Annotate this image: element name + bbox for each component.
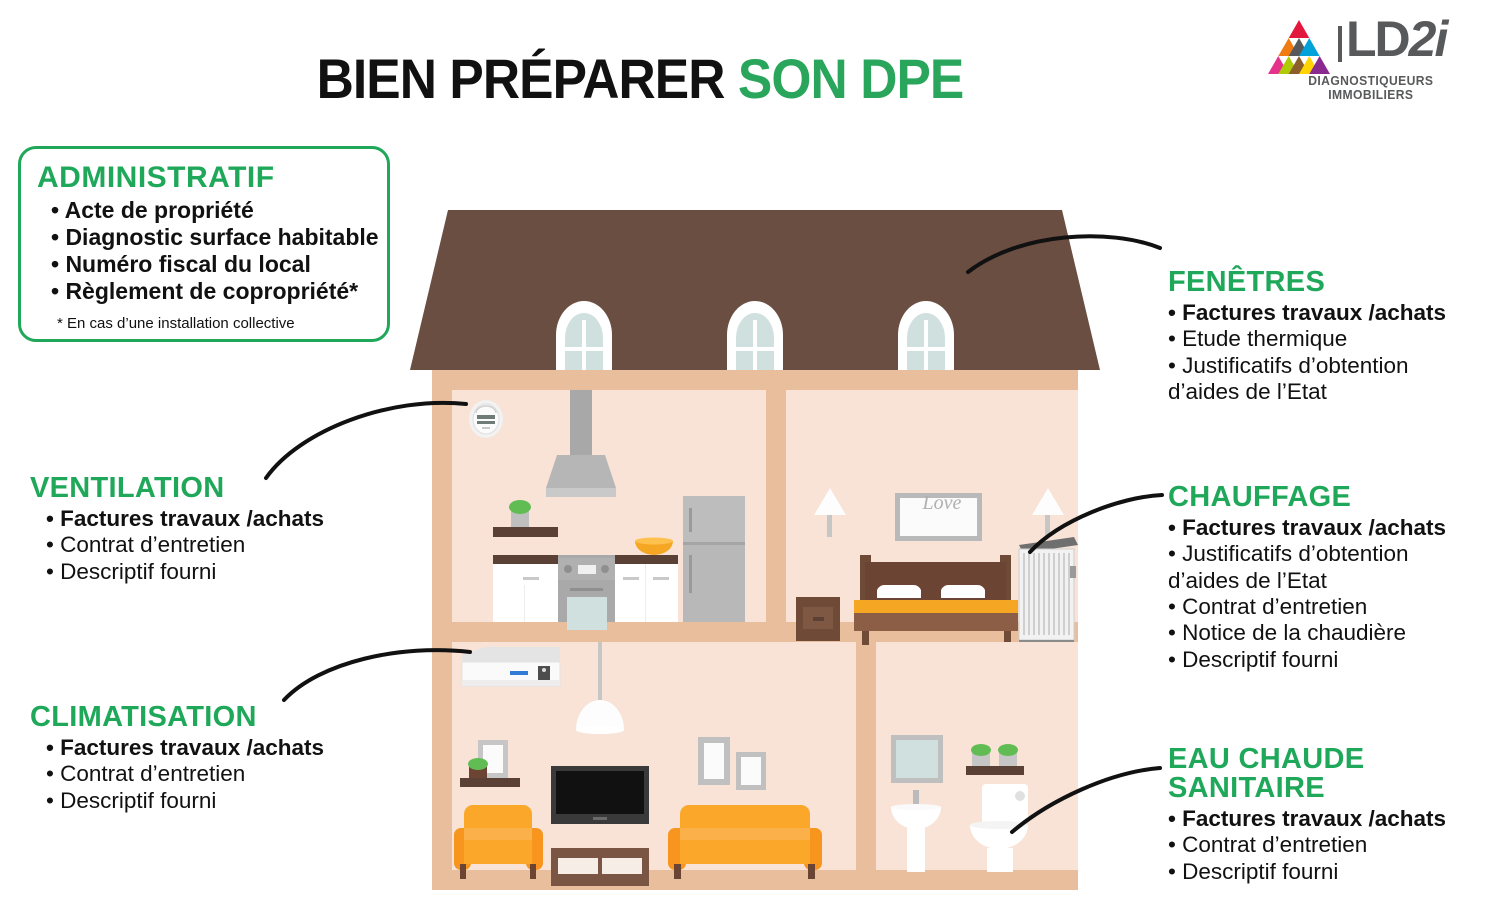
callout-chauffage: CHAUFFAGE • Factures travaux /achats • J…	[1168, 483, 1446, 673]
callout-eau-chaude-item: • Factures travaux /achats	[1168, 806, 1446, 832]
callout-climatisation-heading: CLIMATISATION	[30, 703, 324, 732]
tv-stand	[551, 848, 649, 886]
administratif-item: • Règlement de copropriété*	[37, 278, 371, 305]
callout-fenetres-item: • Justificatifs d’obtention	[1168, 353, 1446, 379]
administratif-item: • Acte de propriété	[37, 197, 371, 224]
callout-ventilation-heading: VENTILATION	[30, 474, 324, 503]
callout-fenetres: FENÊTRES • Factures travaux /achats • Et…	[1168, 268, 1446, 405]
callout-fenetres-item: d’aides de l’Etat	[1168, 379, 1446, 405]
callout-eau-chaude-heading-line1: EAU CHAUDE	[1168, 745, 1446, 774]
callout-eau-chaude-heading-line2: SANITAIRE	[1168, 774, 1446, 803]
room-bedroom	[786, 390, 1078, 645]
oven	[558, 555, 615, 630]
callout-ventilation-item: • Contrat d’entretien	[30, 532, 324, 558]
picture-frame-love-text: Love	[898, 492, 986, 515]
callout-chauffage-item: • Notice de la chaudière	[1168, 620, 1446, 646]
wall-picture-frame	[698, 737, 730, 785]
logo-divider	[1338, 26, 1342, 62]
kitchen-counter-left	[493, 555, 558, 622]
callout-fenetres-item: • Etude thermique	[1168, 326, 1446, 352]
administratif-panel: ADMINISTRATIF • Acte de propriété • Diag…	[18, 146, 390, 342]
callout-fenetres-heading: FENÊTRES	[1168, 268, 1446, 297]
logo-triangle-icon	[1268, 18, 1330, 76]
callout-eau-chaude-sanitaire: EAU CHAUDE SANITAIRE • Factures travaux …	[1168, 745, 1446, 885]
callout-fenetres-item: • Factures travaux /achats	[1168, 300, 1446, 326]
brand-logo: LD2i DIAGNOSTIQUEURS IMMOBILIERS	[1268, 18, 1480, 88]
administratif-item: • Diagnostic surface habitable	[37, 224, 371, 251]
callout-chauffage-item: • Justificatifs d’obtention	[1168, 541, 1446, 567]
page-title-green: SON DPE	[738, 47, 963, 110]
administratif-item: • Numéro fiscal du local	[37, 251, 371, 278]
room-living-room	[452, 642, 856, 886]
bathroom-mirror	[891, 735, 943, 783]
logo-wordmark-ld: LD	[1346, 11, 1409, 67]
ventilation-unit-icon	[469, 400, 503, 438]
callout-eau-chaude-item: • Descriptif fourni	[1168, 859, 1446, 885]
callout-climatisation-item: • Contrat d’entretien	[30, 761, 324, 787]
callout-eau-chaude-item: • Contrat d’entretien	[1168, 832, 1446, 858]
callout-chauffage-item: • Descriptif fourni	[1168, 647, 1446, 673]
logo-wordmark: LD2i	[1346, 10, 1446, 68]
television	[551, 766, 649, 824]
air-conditioner-unit	[462, 647, 560, 686]
room-bathroom	[876, 642, 1078, 872]
refrigerator	[683, 496, 745, 622]
radiator	[1019, 537, 1078, 645]
callout-chauffage-item: d’aides de l’Etat	[1168, 568, 1446, 594]
callout-climatisation-item: • Descriptif fourni	[30, 788, 324, 814]
house-illustration	[410, 200, 1100, 890]
callout-ventilation-item: • Descriptif fourni	[30, 559, 324, 585]
page-title-black: BIEN PRÉPARER	[317, 47, 738, 110]
callout-ventilation-item: • Factures travaux /achats	[30, 506, 324, 532]
callout-climatisation-item: • Factures travaux /achats	[30, 735, 324, 761]
wall-picture-frame	[736, 752, 766, 790]
callout-climatisation: CLIMATISATION • Factures travaux /achats…	[30, 703, 324, 814]
page-title: BIEN PRÉPARER SON DPE	[51, 46, 1229, 111]
callout-chauffage-item: • Factures travaux /achats	[1168, 515, 1446, 541]
callout-chauffage-item: • Contrat d’entretien	[1168, 594, 1446, 620]
nightstand	[796, 597, 840, 641]
administratif-heading: ADMINISTRATIF	[37, 161, 371, 195]
logo-wordmark-2i: 2i	[1409, 11, 1447, 67]
logo-subtitle: DIAGNOSTIQUEURS IMMOBILIERS	[1268, 74, 1474, 102]
room-kitchen	[452, 390, 766, 630]
administratif-footnote: * En cas d’une installation collective	[37, 315, 371, 332]
callout-chauffage-heading: CHAUFFAGE	[1168, 483, 1446, 512]
callout-ventilation: VENTILATION • Factures travaux /achats •…	[30, 474, 324, 585]
